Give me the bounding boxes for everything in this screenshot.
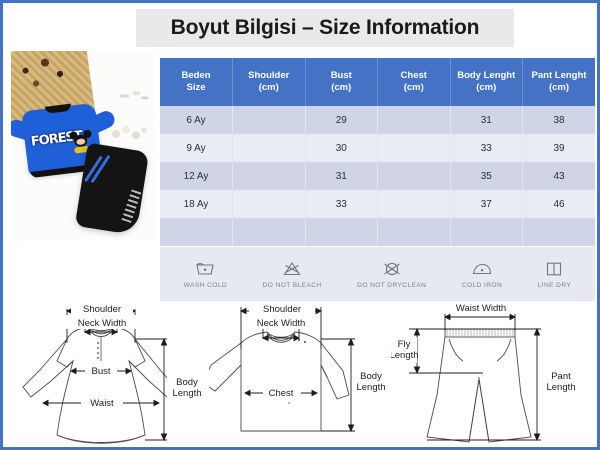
title-banner: Boyut Bilgisi – Size Information [136,9,514,47]
product-photo: FOREST [11,51,154,241]
size-table: Beden Size Shoulder (cm) Bust (cm) Chest… [160,58,595,246]
care-item-do-not-dryclean: DO NOT DRYCLEAN [357,259,426,289]
cell-pant-length: 38 [523,106,596,134]
care-item-cold-iron: COLD IRON [462,259,502,289]
label-chest: Chest [269,388,294,399]
table-row: 9 Ay 30 33 39 [160,134,595,162]
cell-body-length: 33 [450,134,523,162]
cell-body-length: 31 [450,106,523,134]
column-header-bust: Bust (cm) [305,58,378,106]
table-row: 12 Ay 31 35 43 [160,162,595,190]
cell-body-length [450,218,523,246]
care-label: DO NOT DRYCLEAN [357,282,426,289]
care-item-line-dry: LINE DRY [538,259,572,289]
column-header-shoulder: Shoulder (cm) [233,58,306,106]
cold-iron-icon [470,259,494,279]
cell-pant-length [523,218,596,246]
care-label: WASH COLD [184,282,227,289]
column-header-size: Beden Size [160,58,233,106]
column-header-chest: Chest (cm) [378,58,451,106]
label-body-length-2: Length [356,382,385,393]
decorative-leaves [116,87,150,105]
cell-size: 9 Ay [160,134,233,162]
cell-bust: 33 [305,190,378,218]
cell-chest [378,162,451,190]
label-fly-length-2: Length [391,350,419,361]
cell-size: 12 Ay [160,162,233,190]
line-dry-icon [542,259,566,279]
care-label: DO NOT BLEACH [263,282,322,289]
cell-chest [378,190,451,218]
cell-size: 6 Ay [160,106,233,134]
decorative-flowers [108,123,148,145]
cell-size: 18 Ay [160,190,233,218]
label-body-length-2: Length [172,388,201,399]
cell-chest [378,134,451,162]
size-information-card: Boyut Bilgisi – Size Information FOREST [0,0,600,450]
cell-shoulder [233,190,306,218]
care-label: LINE DRY [538,282,572,289]
cell-shoulder [233,162,306,190]
cell-body-length: 35 [450,162,523,190]
mat-pattern [12,51,76,103]
column-header-pant-length: Pant Lenght (cm) [523,58,596,106]
table-header-row: Beden Size Shoulder (cm) Bust (cm) Chest… [160,58,595,106]
care-instructions-strip: WASH COLD DO NOT BLEACH DO NOT DRYCL [160,247,595,301]
cell-size [160,218,233,246]
cell-pant-length: 43 [523,162,596,190]
label-body-length-1: Body [360,371,382,382]
dress-measurement-diagram: Shoulder Neck Width Bust Waist Body Leng… [9,299,207,449]
cell-chest [378,218,451,246]
label-pant-length-1: Pant [551,371,571,382]
label-neck-width: Neck Width [257,318,306,329]
care-label: COLD IRON [462,282,502,289]
pants-side-print [121,188,142,223]
cell-bust: 30 [305,134,378,162]
cell-bust: 31 [305,162,378,190]
cell-chest [378,106,451,134]
label-waist-width: Waist Width [456,303,506,314]
pants-measurement-diagram: Waist Width Fly Length Pant Length [391,299,597,449]
label-neck-width: Neck Width [78,318,127,329]
sweatshirt-measurement-diagram: Shoulder Neck Width Chest Body Length [209,299,387,449]
cell-pant-length: 46 [523,190,596,218]
care-item-do-not-bleach: DO NOT BLEACH [263,259,322,289]
label-bust: Bust [91,366,110,377]
pants-garment [75,143,149,236]
cell-bust: 29 [305,106,378,134]
care-item-wash-cold: WASH COLD [184,259,227,289]
label-pant-length-2: Length [546,382,575,393]
do-not-dryclean-icon [380,259,404,279]
table-row: 6 Ay 29 31 38 [160,106,595,134]
do-not-bleach-icon [280,259,304,279]
label-waist: Waist [90,398,114,409]
table-row-empty [160,218,595,246]
cell-shoulder [233,134,306,162]
cell-bust [305,218,378,246]
column-header-body-length: Body Lenght (cm) [450,58,523,106]
label-fly-length-1: Fly [398,339,411,350]
label-shoulder: Shoulder [263,304,301,315]
table-row: 18 Ay 33 37 46 [160,190,595,218]
cell-pant-length: 39 [523,134,596,162]
wash-cold-icon [193,259,217,279]
cell-body-length: 37 [450,190,523,218]
cell-shoulder [233,106,306,134]
label-body-length-1: Body [176,377,198,388]
label-shoulder: Shoulder [83,304,121,315]
page-title: Boyut Bilgisi – Size Information [171,16,480,40]
cell-shoulder [233,218,306,246]
